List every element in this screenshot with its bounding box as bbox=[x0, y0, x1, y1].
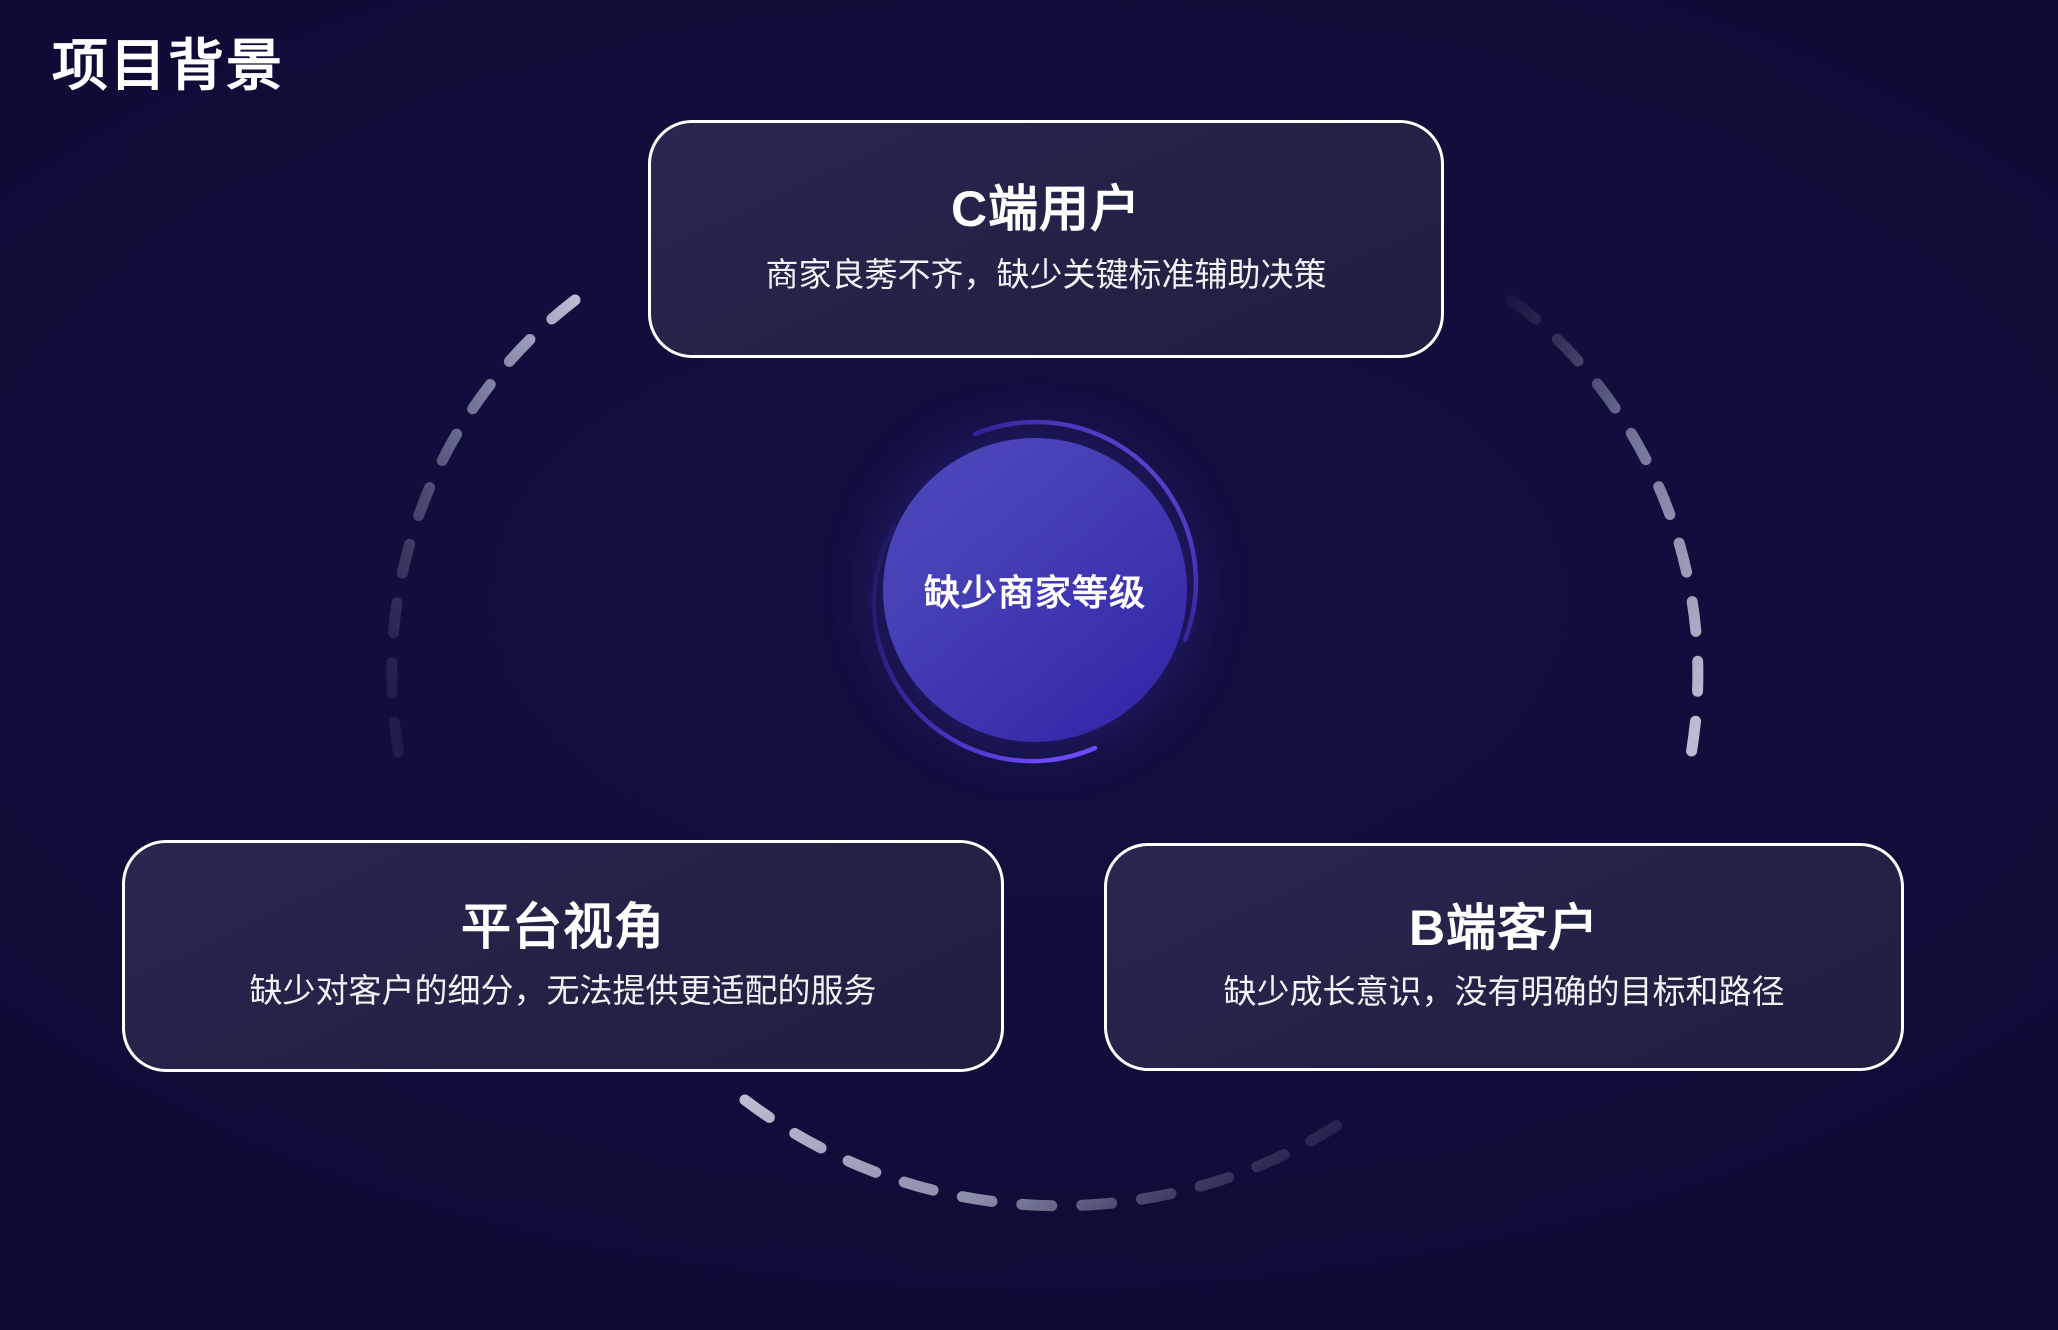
connector-arc-right bbox=[1512, 300, 1698, 760]
connector-arc-left bbox=[392, 300, 575, 760]
card-title: B端客户 bbox=[1409, 900, 1599, 958]
card-description: 商家良莠不齐，缺少关键标准辅助决策 bbox=[766, 254, 1327, 297]
card-title: C端用户 bbox=[951, 181, 1141, 239]
slide-canvas: 项目背景 C端用户 bbox=[0, 0, 2058, 1330]
center-node[interactable]: 缺少商家等级 bbox=[855, 410, 1215, 770]
center-circle[interactable]: 缺少商家等级 bbox=[883, 438, 1187, 742]
center-label: 缺少商家等级 bbox=[924, 564, 1146, 616]
card-description: 缺少对客户的细分，无法提供更适配的服务 bbox=[250, 970, 877, 1013]
card-b-end-client[interactable]: B端客户 缺少成长意识，没有明确的目标和路径 bbox=[1104, 843, 1904, 1071]
card-c-end-user[interactable]: C端用户 商家良莠不齐，缺少关键标准辅助决策 bbox=[648, 120, 1444, 358]
card-title: 平台视角 bbox=[461, 899, 665, 957]
page-title: 项目背景 bbox=[52, 32, 284, 99]
card-description: 缺少成长意识，没有明确的目标和路径 bbox=[1224, 971, 1785, 1014]
connector-arc-bottom bbox=[745, 1100, 1360, 1206]
card-platform-view[interactable]: 平台视角 缺少对客户的细分，无法提供更适配的服务 bbox=[122, 840, 1004, 1072]
